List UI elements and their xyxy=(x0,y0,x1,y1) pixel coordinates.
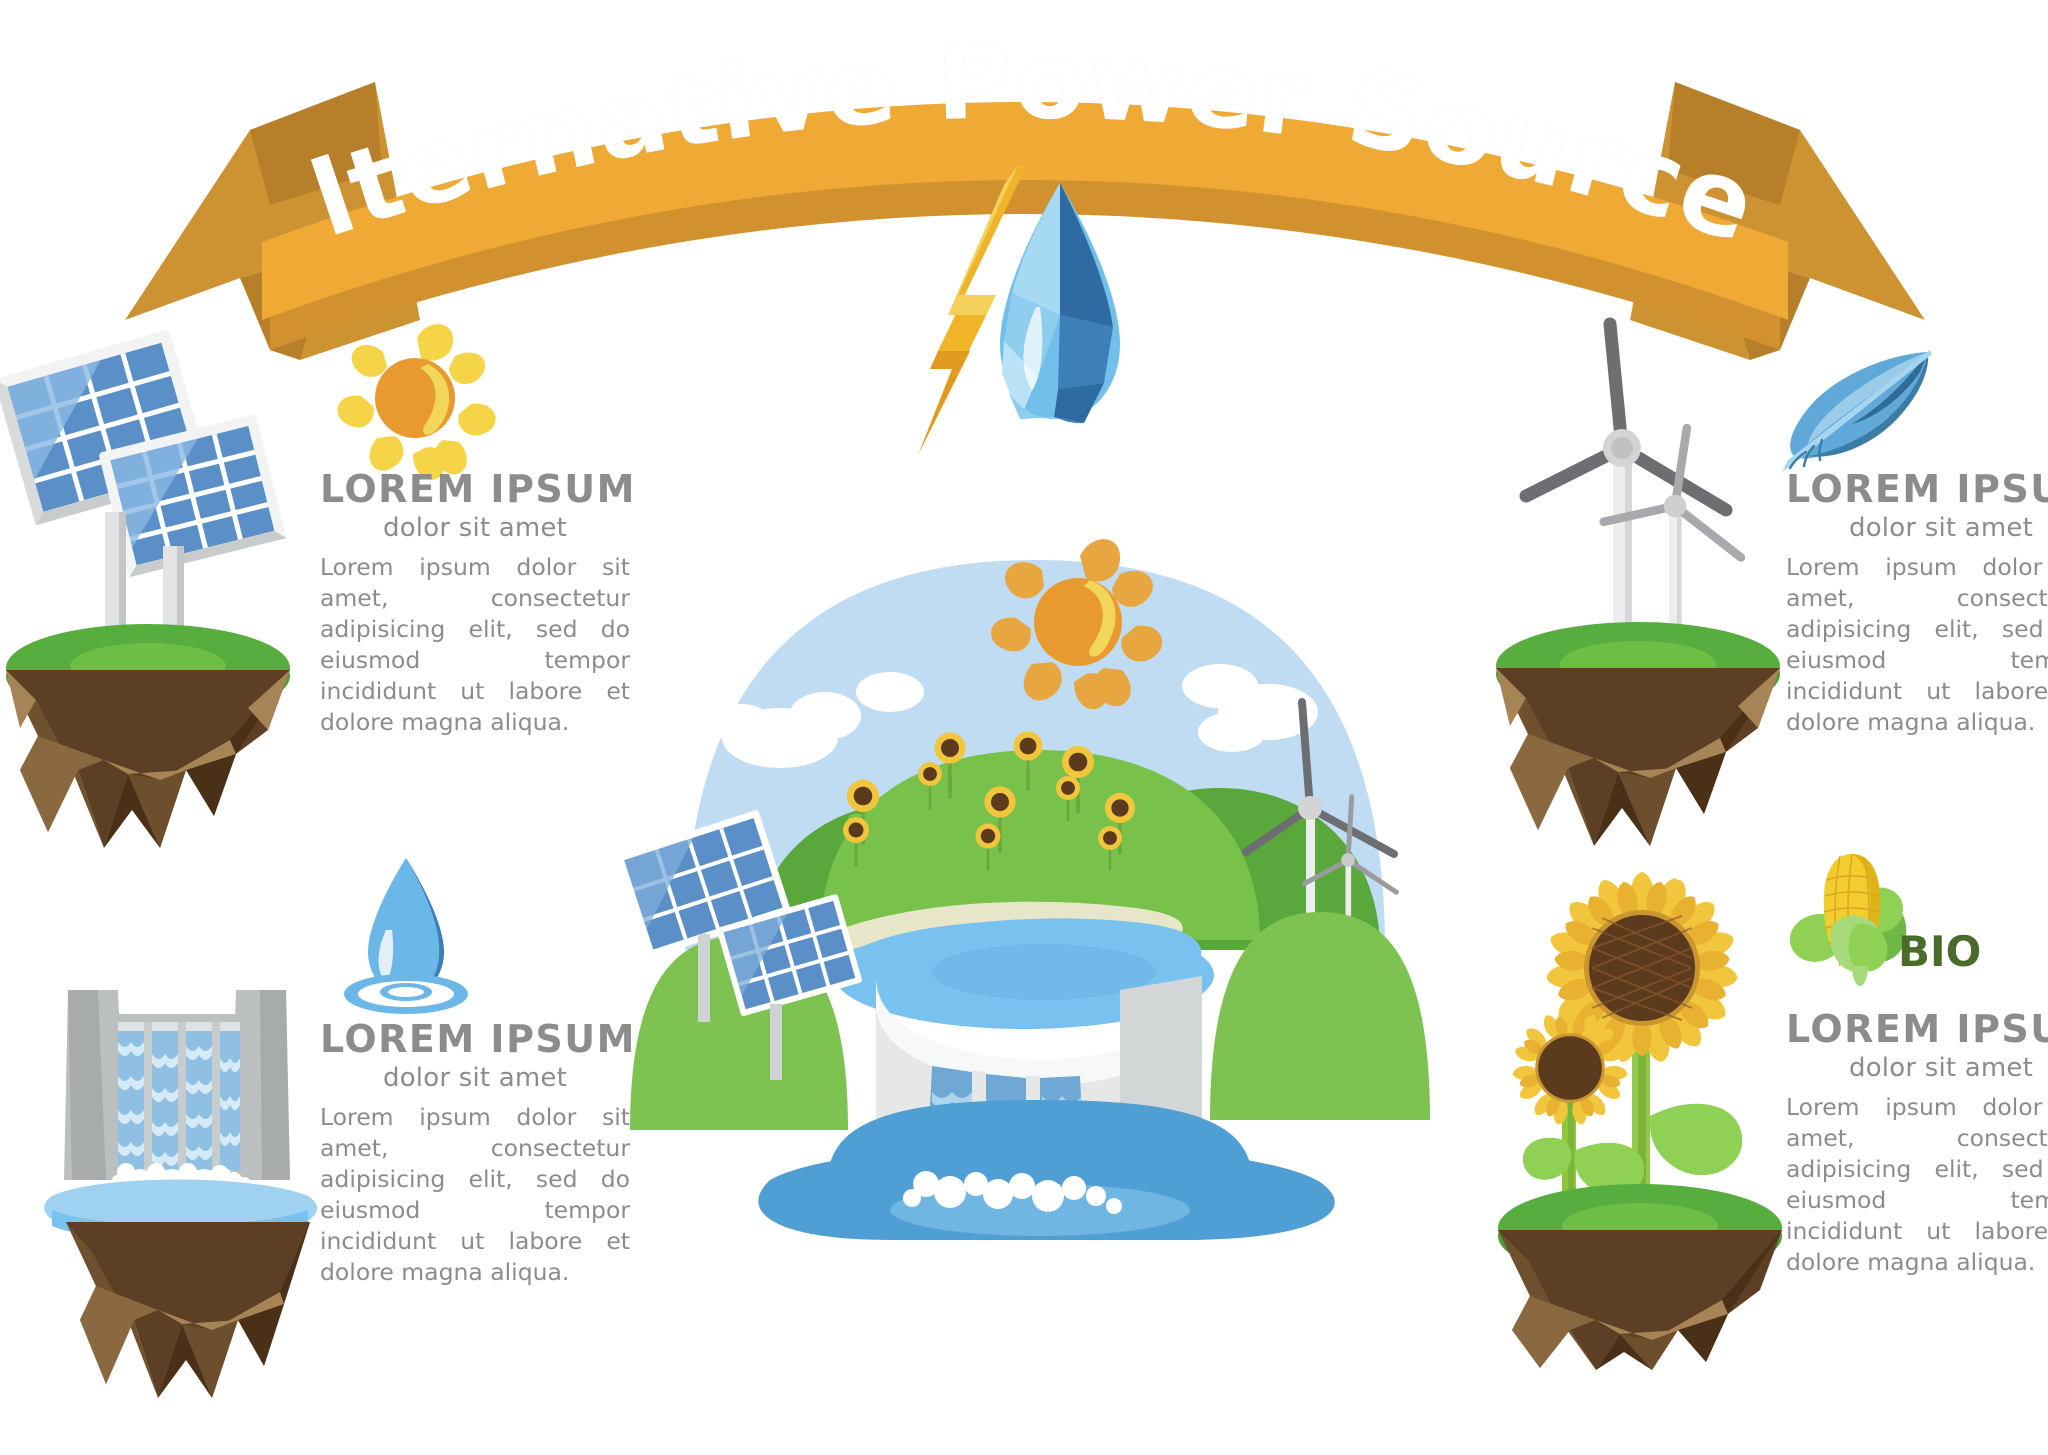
wind-text-block: LOREM IPSUM dolor sit amet Lorem ipsum d… xyxy=(1786,470,2048,738)
solar-panel-island xyxy=(0,340,300,860)
bio-title: LOREM IPSUM xyxy=(1786,1010,2048,1050)
wind-turbine-island xyxy=(1490,320,1790,840)
floating-island xyxy=(1496,622,1780,846)
bio-subtitle: dolor sit amet xyxy=(1786,1053,2048,1083)
sunflower-island xyxy=(1480,850,1800,1370)
solar-body: Lorem ipsum dolor sit amet, consectetur … xyxy=(320,552,630,738)
wind-subtitle: dolor sit amet xyxy=(1786,513,2048,543)
floating-island xyxy=(6,624,290,848)
lightning-waterdrop-icon xyxy=(908,155,1168,485)
wind-title: LOREM IPSUM xyxy=(1786,470,2048,510)
bio-body: Lorem ipsum dolor sit amet, consectetur … xyxy=(1786,1092,2048,1278)
dam-island xyxy=(40,980,330,1450)
wind-body: Lorem ipsum dolor sit amet, consectetur … xyxy=(1786,552,2048,738)
hydro-text-block: LOREM IPSUM dolor sit amet Lorem ipsum d… xyxy=(320,1020,630,1288)
solar-title: LOREM IPSUM xyxy=(320,470,630,510)
solar-subtitle: dolor sit amet xyxy=(320,513,630,543)
sun-icon xyxy=(328,320,498,480)
hydro-title: LOREM IPSUM xyxy=(320,1020,630,1060)
solar-text-block: LOREM IPSUM dolor sit amet Lorem ipsum d… xyxy=(320,470,630,738)
water-drop-shape xyxy=(1000,183,1120,423)
waterfall-dam xyxy=(64,990,290,1180)
hydro-subtitle: dolor sit amet xyxy=(320,1063,630,1093)
floating-island xyxy=(66,1222,310,1398)
feather-icon xyxy=(1780,344,1950,474)
water-drop-icon xyxy=(340,852,490,1012)
corn-bio-icon: BIO xyxy=(1780,840,1980,1000)
hydro-body: Lorem ipsum dolor sit amet, consectetur … xyxy=(320,1102,630,1288)
floating-island xyxy=(1498,1184,1782,1370)
bio-label: BIO xyxy=(1898,927,1981,976)
eco-landscape-scene xyxy=(620,520,1450,1180)
bio-text-block: LOREM IPSUM dolor sit amet Lorem ipsum d… xyxy=(1786,1010,2048,1278)
